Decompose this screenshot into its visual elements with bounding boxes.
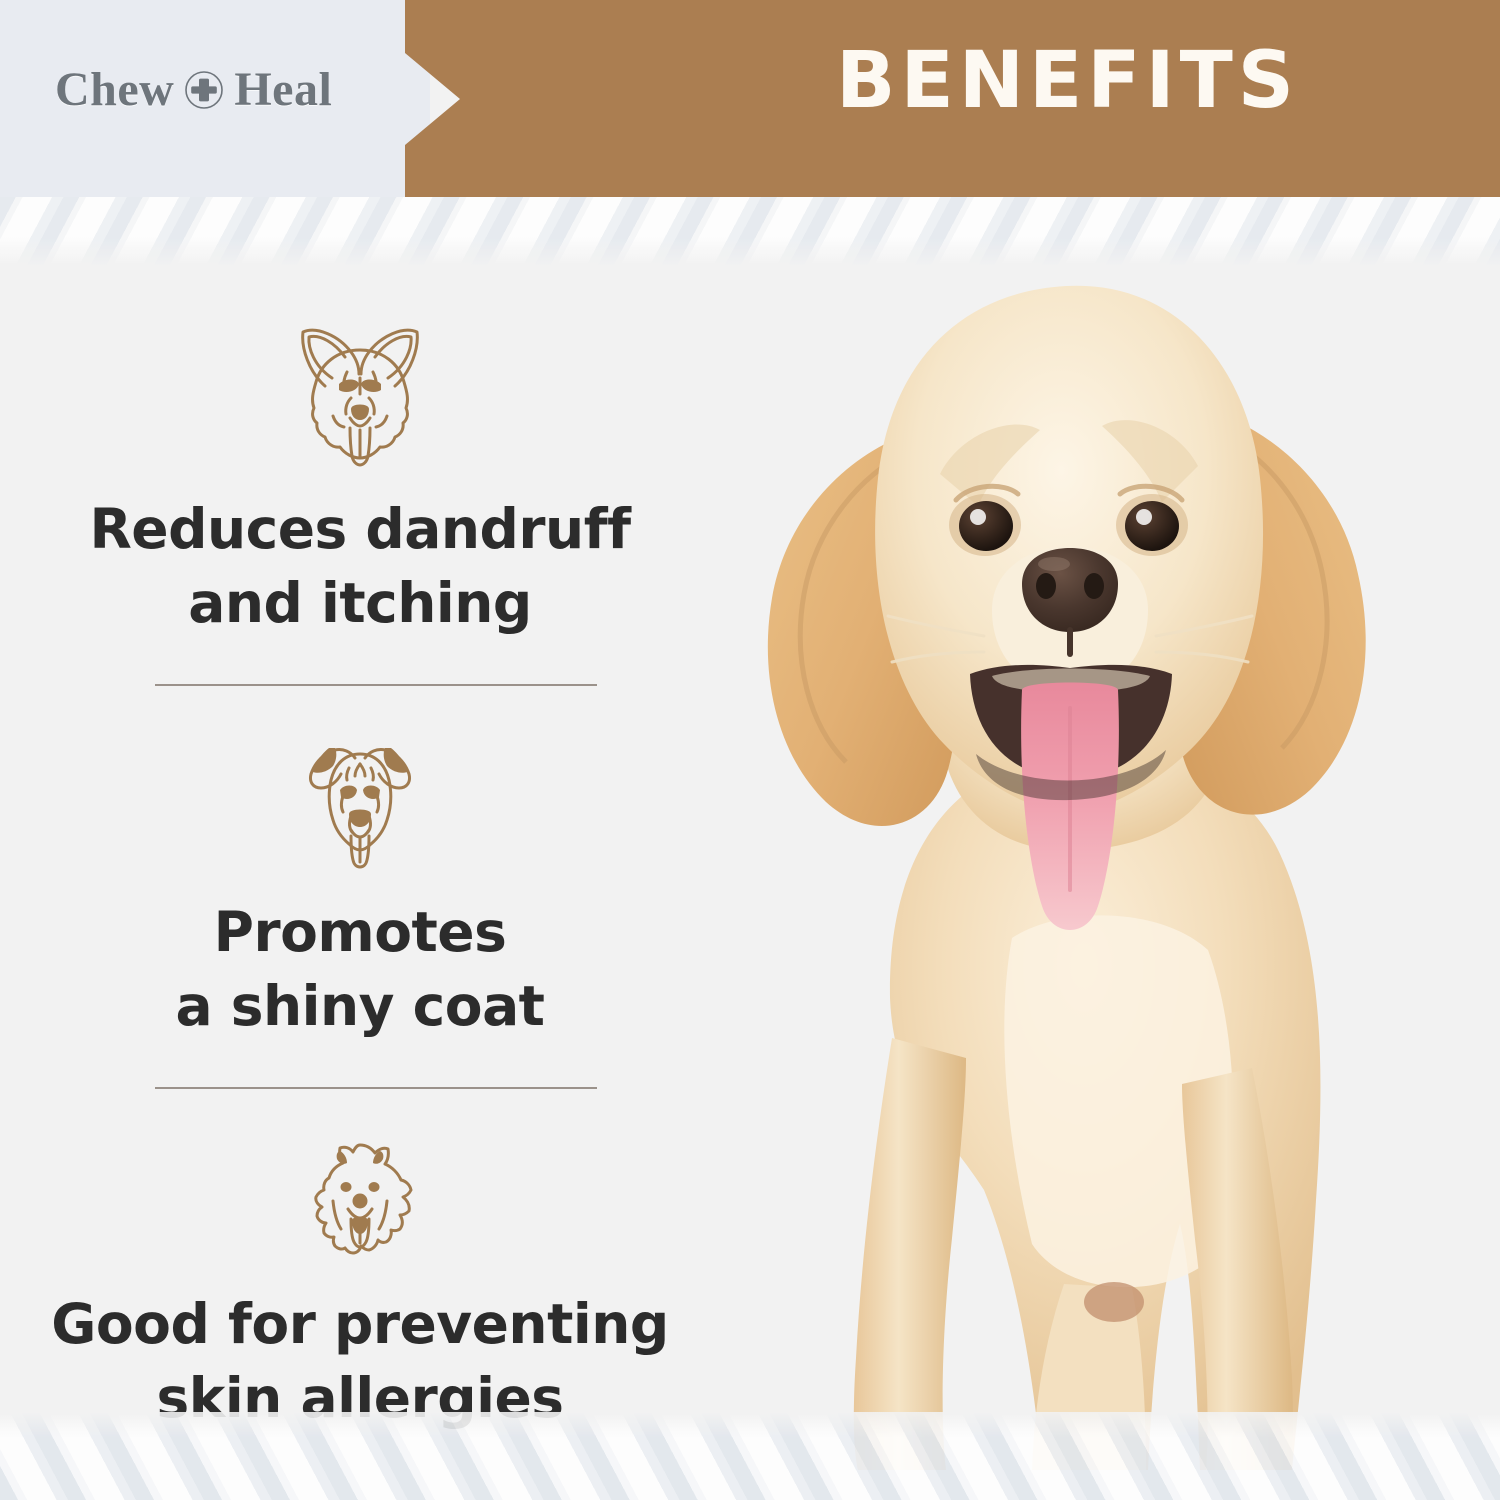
benefit-divider — [155, 684, 597, 686]
terrier-dog-face-icon — [299, 738, 421, 870]
benefit-divider — [155, 1087, 597, 1089]
benefit-item: Good for preventing skin allergies — [20, 1137, 700, 1435]
header: BENEFITS Chew Heal — [0, 0, 1500, 197]
benefit-text: Promotes a shiny coat — [20, 895, 700, 1043]
benefit-text-line2: a shiny coat — [20, 969, 700, 1043]
bottom-stripe-band — [0, 1412, 1500, 1500]
brand-logo: Chew Heal — [55, 66, 332, 114]
benefit-text-line1: Reduces dandruff — [20, 492, 700, 566]
benefit-text-line2: and itching — [20, 566, 700, 640]
samoyed-dog-face-icon — [304, 1137, 416, 1259]
benefits-list: Reduces dandruff and itching — [20, 320, 700, 1435]
page-title: BENEFITS — [405, 42, 1500, 120]
benefit-text: Reduces dandruff and itching — [20, 492, 700, 640]
corgi-dog-face-icon — [287, 320, 433, 470]
medical-plus-circle-icon — [184, 70, 224, 110]
benefits-poster: BENEFITS Chew Heal — [0, 0, 1500, 1500]
benefit-text-line1: Promotes — [20, 895, 700, 969]
benefit-item: Promotes a shiny coat — [20, 738, 700, 1043]
benefit-item: Reduces dandruff and itching — [20, 320, 700, 640]
logo-text-heal: Heal — [234, 66, 332, 114]
dog-photo — [640, 238, 1420, 1470]
benefits-banner: BENEFITS — [405, 0, 1500, 197]
logo-text-chew: Chew — [55, 66, 174, 114]
benefit-text-line1: Good for preventing — [20, 1287, 700, 1361]
